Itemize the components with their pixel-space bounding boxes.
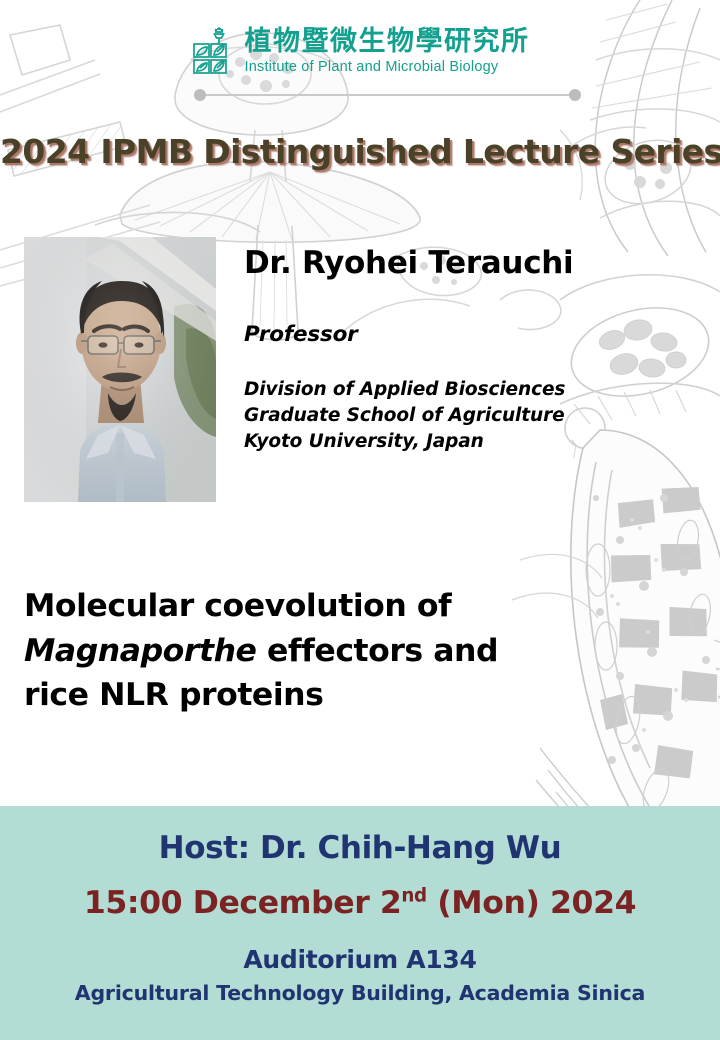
date-ordinal-suffix: nd <box>401 886 426 907</box>
divider-dot-left <box>194 89 206 101</box>
institute-logo: 植物暨微生物學研究所 Institute of Plant and Microb… <box>0 20 720 84</box>
header-divider <box>0 88 720 102</box>
speaker-affiliation: Division of Applied Biosciences Graduate… <box>244 377 664 456</box>
logo-text-block: 植物暨微生物學研究所 Institute of Plant and Microb… <box>245 27 530 76</box>
lecture-title-line-1: Molecular coevolution of <box>24 584 604 629</box>
institute-name-english: Institute of Plant and Microbial Biology <box>245 59 499 76</box>
speaker-name: Dr. Ryohei Terauchi <box>244 246 664 281</box>
genus-name: Magnaporthe <box>24 633 256 669</box>
lecture-title: Molecular coevolution of Magnaporthe eff… <box>24 584 604 718</box>
divider-dot-right <box>569 89 581 101</box>
lecture-title-line-2: Magnaporthe effectors and <box>24 629 604 674</box>
building-line: Agricultural Technology Building, Academ… <box>0 981 720 1006</box>
venue-line: Auditorium A134 <box>0 945 720 975</box>
date-time-line: 15:00 December 2nd (Mon) 2024 <box>0 885 720 923</box>
event-details-footer: Host: Dr. Chih-Hang Wu 15:00 December 2n… <box>0 806 720 1040</box>
affiliation-line-2: Graduate School of Agriculture <box>244 403 664 429</box>
speaker-rank: Professor <box>244 322 664 347</box>
affiliation-line-3: Kyoto University, Japan <box>244 429 664 455</box>
speaker-photo <box>24 237 216 502</box>
ipmb-plant-grid-logo-icon <box>191 26 235 78</box>
lecture-title-line-3: rice NLR proteins <box>24 673 604 718</box>
divider-rule <box>200 94 575 96</box>
lecture-title-line-2-rest: effectors and <box>256 633 498 669</box>
affiliation-line-1: Division of Applied Biosciences <box>244 377 664 403</box>
host-line: Host: Dr. Chih-Hang Wu <box>0 830 720 867</box>
date-time-text: 15:00 December 2 <box>84 885 402 921</box>
institute-name-chinese: 植物暨微生物學研究所 <box>245 27 530 57</box>
date-suffix-text: (Mon) 2024 <box>427 885 636 921</box>
speaker-info: Dr. Ryohei Terauchi Professor Division o… <box>244 246 664 456</box>
lecture-poster: 植物暨微生物學研究所 Institute of Plant and Microb… <box>0 0 720 1040</box>
series-title: 2024 IPMB Distinguished Lecture Series <box>0 132 720 171</box>
